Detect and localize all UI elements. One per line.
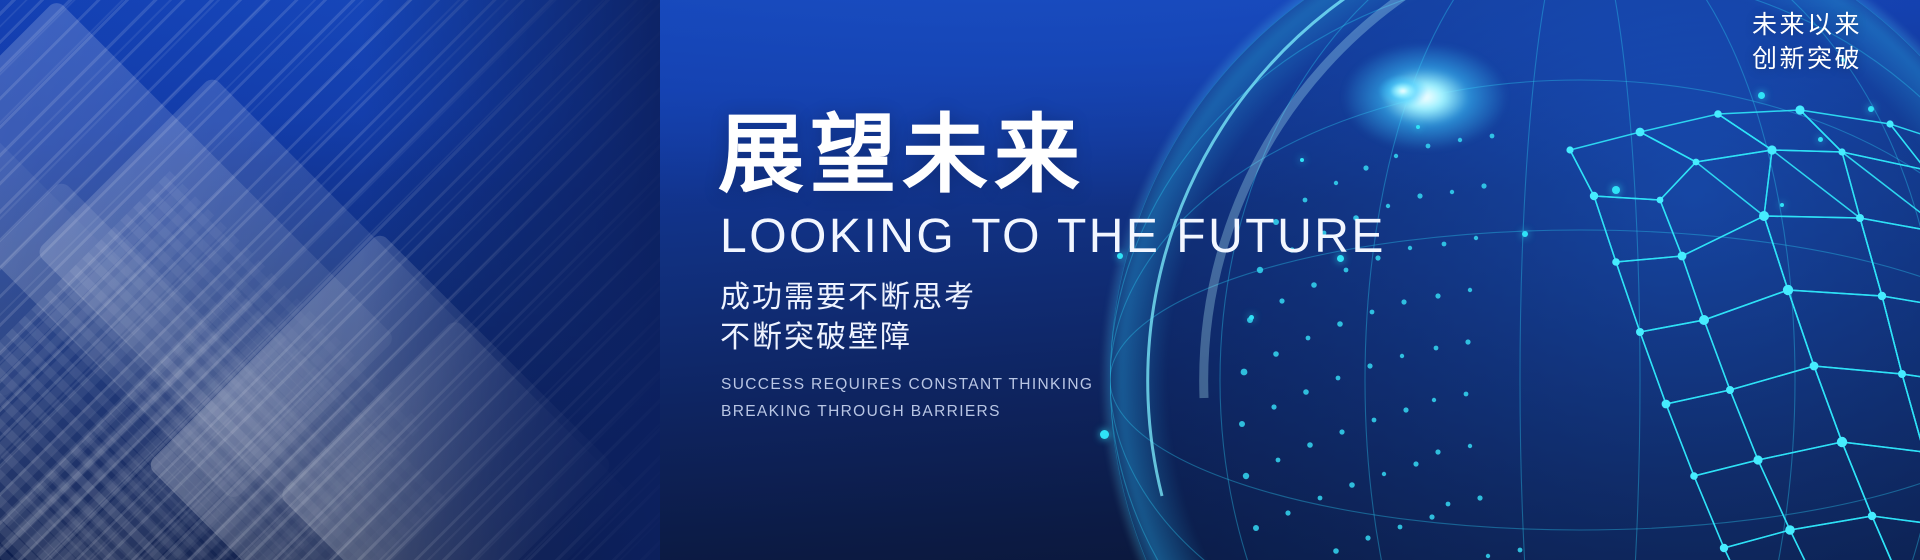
particle-dot	[1868, 106, 1874, 112]
corner-note-line-2: 创新突破	[1752, 42, 1862, 76]
left-art-fade	[362, 0, 660, 560]
banner-root: 未来以来 创新突破 展望未来 LOOKING TO THE FUTURE 成功需…	[0, 0, 1920, 560]
globe-light-flare-core	[1368, 68, 1438, 114]
subtitle-en-line-1: SUCCESS REQUIRES CONSTANT THINKING	[721, 372, 1478, 399]
particle-dot	[1522, 231, 1528, 237]
headline-block: 展望未来 LOOKING TO THE FUTURE 成功需要不断思考 不断突破…	[718, 112, 1478, 426]
subtitle-cn-line-1: 成功需要不断思考	[720, 278, 1478, 318]
particle-dot	[1100, 430, 1109, 439]
page-title-en: LOOKING TO THE FUTURE	[720, 212, 1478, 262]
particle-dot	[1780, 203, 1784, 207]
particle-dot	[1818, 137, 1823, 142]
particle-dot	[1758, 92, 1765, 99]
subtitle-en-line-2: BREAKING THROUGH BARRIERS	[721, 399, 1478, 426]
corner-note: 未来以来 创新突破	[1752, 8, 1862, 75]
particle-dot	[1612, 186, 1620, 194]
subtitle-cn: 成功需要不断思考 不断突破壁障	[720, 278, 1478, 358]
left-geometric-art	[0, 0, 660, 560]
page-title-cn: 展望未来	[718, 112, 1478, 198]
corner-note-line-1: 未来以来	[1752, 8, 1862, 42]
subtitle-cn-line-2: 不断突破壁障	[720, 318, 1478, 358]
subtitle-en: SUCCESS REQUIRES CONSTANT THINKING BREAK…	[721, 372, 1478, 426]
